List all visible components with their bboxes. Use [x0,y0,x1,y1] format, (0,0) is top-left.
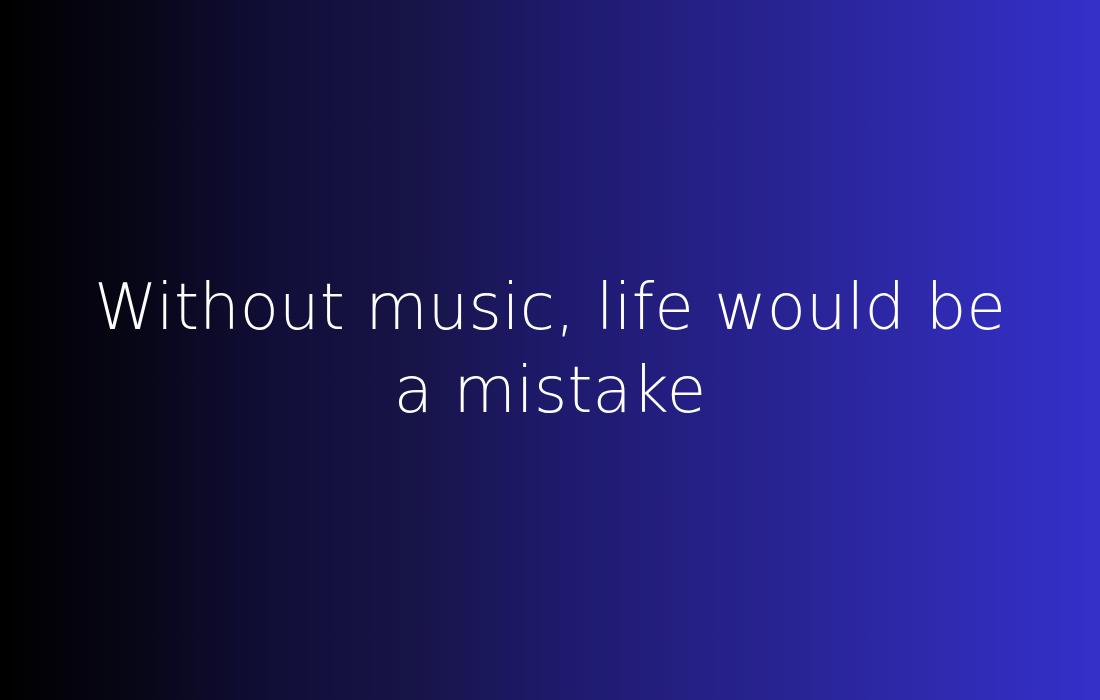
quote-text: Without music, life would be a mistake [90,267,1010,433]
quote-text-container: Without music, life would be a mistake [80,267,1020,433]
quote-card: Without music, life would be a mistake [0,0,1100,700]
